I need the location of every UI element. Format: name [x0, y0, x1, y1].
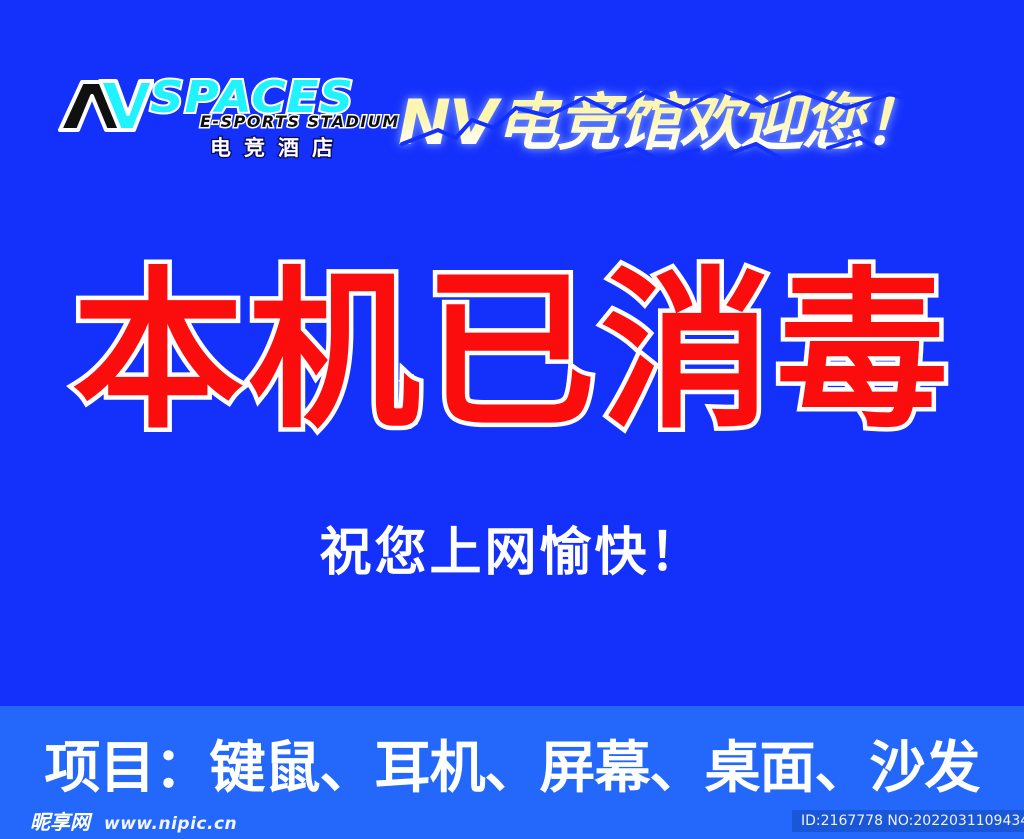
image-id-badge: ID:2167778 NO:20220311094349416120	[792, 810, 1024, 832]
page-title: 本机已消毒	[0, 262, 1024, 442]
logo-tagline-chinese: 电竞酒店	[210, 132, 346, 162]
watermark-brand: 昵享网	[30, 811, 90, 833]
poster-canvas: SPACES E-SPORTS STADIUM 电竞酒店 NV电竞馆欢迎您！ 本…	[0, 0, 1024, 839]
items-band-text: 项目：键鼠、耳机、屏幕、桌面、沙发	[0, 736, 1024, 802]
welcome-headline: NV电竞馆欢迎您！	[398, 82, 978, 174]
logo-tagline-english: E-SPORTS STADIUM	[200, 112, 400, 131]
brand-logo: SPACES E-SPORTS STADIUM 电竞酒店	[58, 76, 378, 166]
nv-monogram-icon	[58, 78, 154, 132]
watermark-url: www.nipic.cn	[104, 814, 237, 834]
subtitle-text: 祝您上网愉快！	[0, 522, 1024, 584]
welcome-headline-text: NV电竞馆欢迎您！	[398, 82, 924, 164]
